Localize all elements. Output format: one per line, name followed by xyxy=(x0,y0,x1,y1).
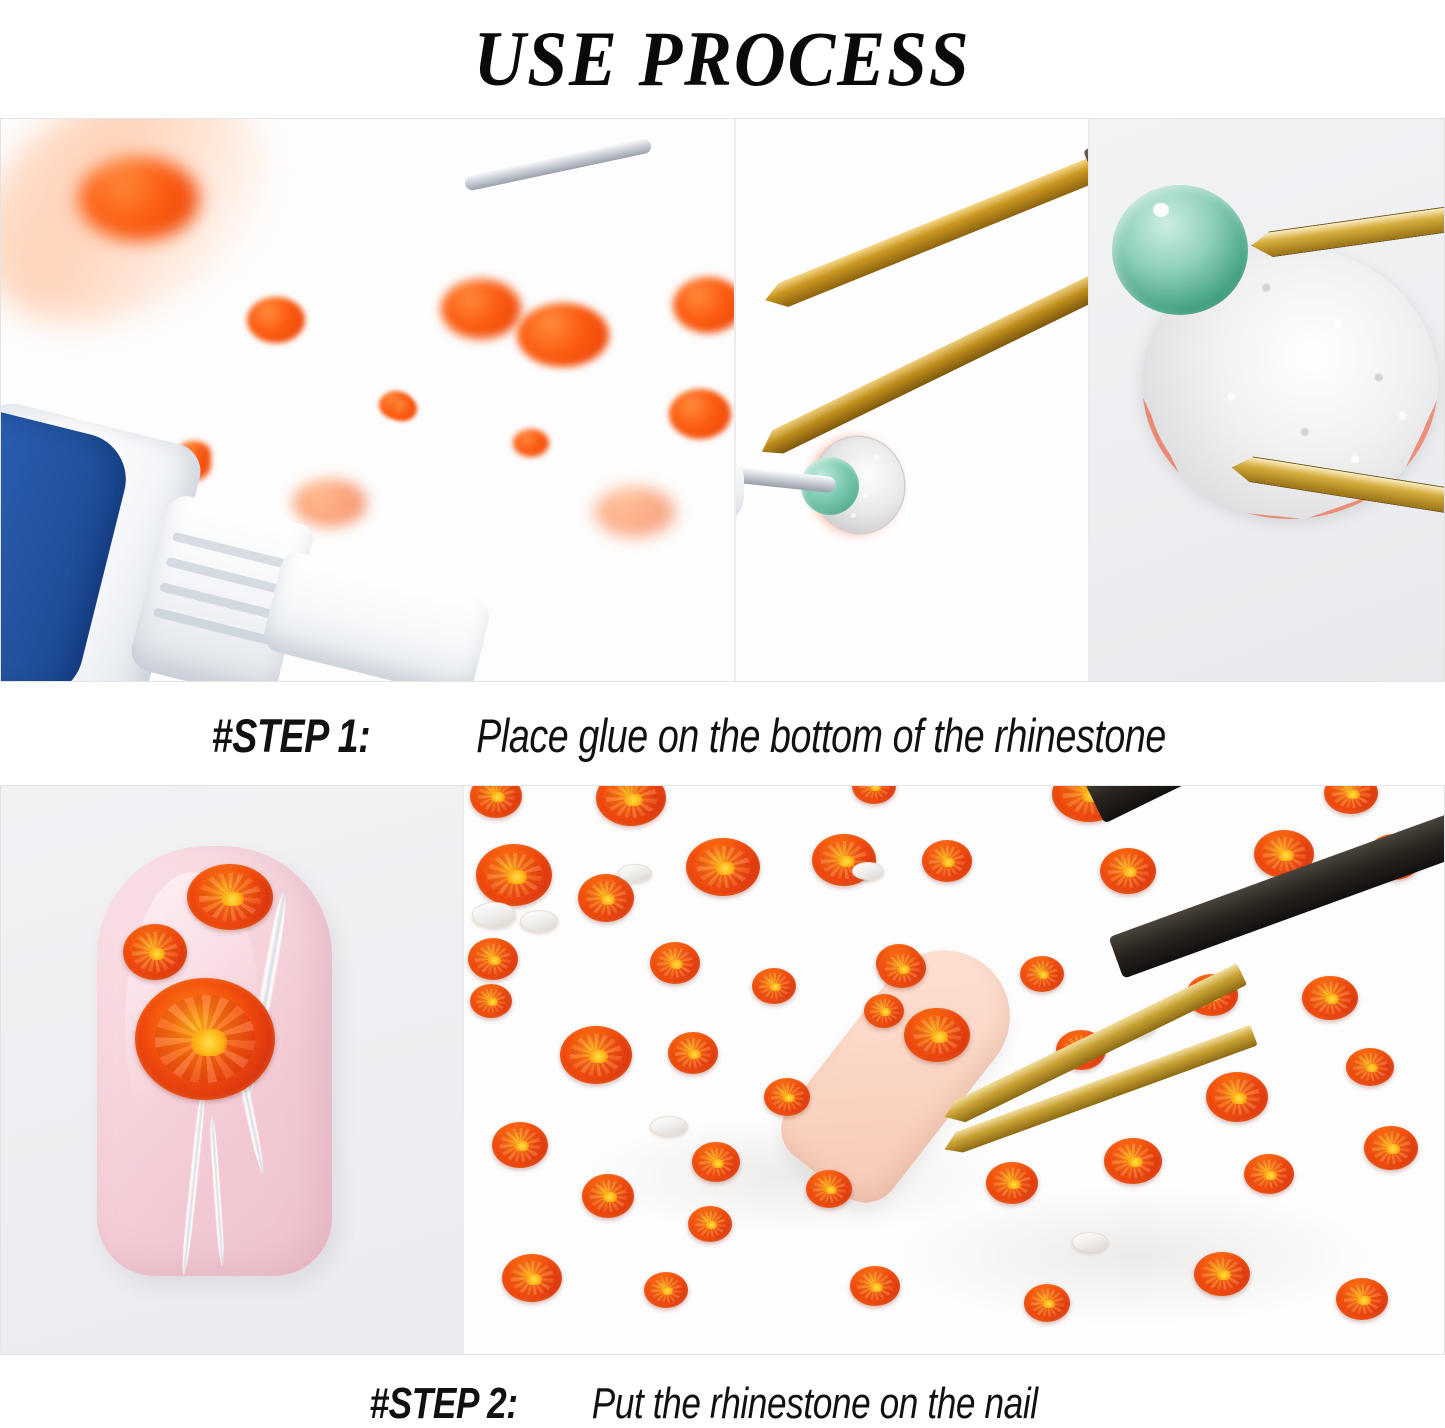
glue-bottle: R B xyxy=(1,386,529,681)
step-1-label: #STEP 1: xyxy=(212,712,370,759)
rhinestone xyxy=(492,1122,548,1168)
rhinestone xyxy=(922,840,972,882)
blurred-rhinestone xyxy=(517,303,609,367)
tweezer-handle-lower xyxy=(1109,794,1444,979)
rhinestone xyxy=(1346,1048,1394,1086)
tweezers-holding-stone-photo xyxy=(734,119,1088,681)
step-1-caption: #STEP 1: Place glue on the bottom of the… xyxy=(0,682,1445,759)
rhinestone xyxy=(1302,976,1358,1020)
rhinestone xyxy=(650,942,700,984)
blurred-rhinestone xyxy=(673,277,734,333)
rhinestone-closeup-photo xyxy=(1088,119,1444,681)
tweezer-arm-lower xyxy=(756,232,1089,461)
rhinestone xyxy=(850,1266,900,1306)
step-1-block: R B xyxy=(0,118,1445,759)
surface-shadow xyxy=(894,1186,1374,1326)
rhinestone xyxy=(1206,1072,1268,1122)
rhinestone xyxy=(1364,1126,1418,1170)
rhinestone xyxy=(502,1254,562,1302)
rhinestone-on-nail xyxy=(904,1008,970,1062)
rhinestone xyxy=(1104,1138,1162,1184)
glue-applicator-photo: R B xyxy=(1,119,734,681)
rhinestone xyxy=(476,844,552,906)
rhinestone-on-nail xyxy=(135,978,275,1100)
rhinestone-on-nail xyxy=(187,864,273,930)
rhinestone xyxy=(1100,848,1156,894)
rhinestone xyxy=(644,1272,688,1308)
rhinestone xyxy=(752,968,796,1004)
blurred-rhinestone xyxy=(441,279,521,339)
rhinestone xyxy=(470,984,512,1018)
rhinestone xyxy=(1324,786,1378,814)
rhinestone xyxy=(668,1032,718,1074)
rhinestone xyxy=(578,874,634,922)
scattered-rhinestones-photo xyxy=(462,786,1444,1354)
rhinestone xyxy=(1244,1154,1294,1194)
blurred-rhinestone xyxy=(247,297,305,343)
rhinestone-flat-back xyxy=(520,910,558,932)
rhinestone xyxy=(1194,1252,1250,1296)
rhinestone xyxy=(688,1206,732,1242)
rhinestone xyxy=(582,1174,634,1218)
blurred-rhinestone xyxy=(595,487,675,537)
bottle-tip xyxy=(260,549,493,681)
rhinestone-flat-back xyxy=(472,902,516,928)
rhinestone xyxy=(986,1162,1038,1204)
rhinestone xyxy=(596,786,666,826)
step-2-label: #STEP 2: xyxy=(370,1382,518,1426)
tweezer-handle-upper xyxy=(1084,786,1444,824)
rhinestone-on-nail xyxy=(123,924,187,980)
rhinestone xyxy=(468,938,518,980)
rhinestone xyxy=(470,786,522,818)
tweezer-arm-upper xyxy=(762,119,1089,314)
rhinestone xyxy=(852,786,896,804)
blurred-rhinestone xyxy=(669,389,731,439)
step-2-caption: #STEP 2: Put the rhinestone on the nail xyxy=(0,1355,1445,1426)
blurred-rhinestone xyxy=(79,157,199,241)
rhinestone xyxy=(1336,1278,1388,1320)
step-1-photo-row: R B xyxy=(0,118,1445,682)
blurred-rhinestone xyxy=(513,429,549,457)
rhinestone xyxy=(686,838,760,896)
rhinestone xyxy=(560,1026,632,1084)
glue-droplet-macro xyxy=(1112,185,1248,315)
decorated-nail-photo xyxy=(1,786,462,1354)
page-title: USE PROCESS xyxy=(474,20,971,98)
page-title-bar: USE PROCESS xyxy=(0,0,1445,118)
step-2-photo-row xyxy=(0,785,1445,1355)
rhinestone xyxy=(1020,956,1064,992)
applicator-body xyxy=(734,453,744,523)
step-2-text: Put the rhinestone on the nail xyxy=(592,1382,1038,1426)
applicator-needle xyxy=(464,137,653,191)
step-2-block: #STEP 2: Put the rhinestone on the nail xyxy=(0,785,1445,1426)
rhinestone-flat-back xyxy=(618,864,652,882)
step-1-text: Place glue on the bottom of the rhinesto… xyxy=(477,712,1167,759)
blurred-rhinestone xyxy=(389,397,417,421)
rhinestone-flat-back xyxy=(852,862,884,880)
